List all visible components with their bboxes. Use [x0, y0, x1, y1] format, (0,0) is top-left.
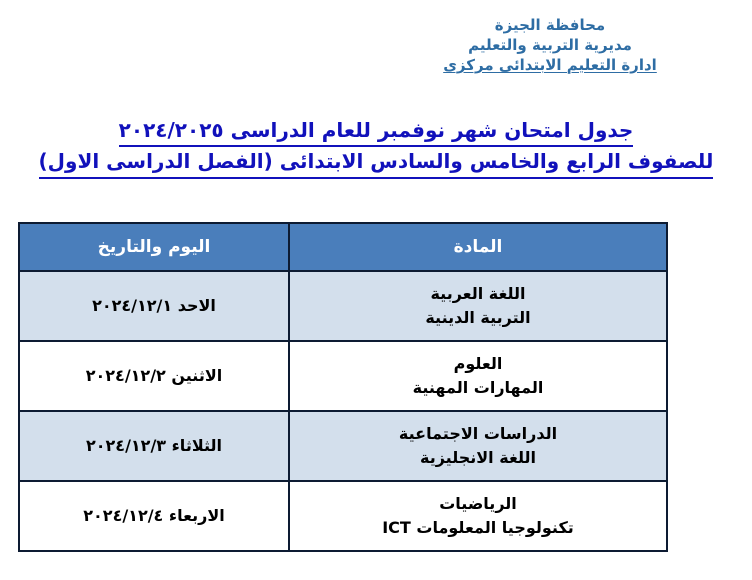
- subject-primary: اللغة العربية: [290, 282, 666, 306]
- cell-subject: العلوم المهارات المهنية: [289, 341, 667, 411]
- table-head: المادة اليوم والتاريخ: [19, 223, 667, 271]
- table-row: الرياضيات تكنولوجيا المعلومات ICT الاربع…: [19, 481, 667, 551]
- day-date-group: الاثنين ٢٠٢٤/١٢/٢: [20, 364, 288, 388]
- cell-day-date: الثلاثاء ٢٠٢٤/١٢/٣: [19, 411, 289, 481]
- page-title: جدول امتحان شهر نوفمبر للعام الدراسى ٢٠٢…: [0, 116, 752, 179]
- table-body: اللغة العربية التربية الدينية الاحد ٢٠٢٤…: [19, 271, 667, 551]
- date-label: ٢٠٢٤/١٢/٣: [86, 436, 166, 455]
- title-line-exam-schedule: جدول امتحان شهر نوفمبر للعام الدراسى ٢٠٢…: [0, 116, 752, 147]
- letterhead-line-directorate: مديرية التربية والتعليم: [400, 36, 700, 56]
- table-row: العلوم المهارات المهنية الاثنين ٢٠٢٤/١٢/…: [19, 341, 667, 411]
- subject-secondary: المهارات المهنية: [290, 376, 666, 400]
- subject-primary: العلوم: [290, 352, 666, 376]
- cell-day-date: الاربعاء ٢٠٢٤/١٢/٤: [19, 481, 289, 551]
- column-header-subject: المادة: [289, 223, 667, 271]
- title-line-grades: للصفوف الرابع والخامس والسادس الابتدائى …: [0, 147, 752, 178]
- cell-subject: الرياضيات تكنولوجيا المعلومات ICT: [289, 481, 667, 551]
- column-header-day-date: اليوم والتاريخ: [19, 223, 289, 271]
- letterhead: محافظة الجيزة مديرية التربية والتعليم اد…: [400, 16, 700, 75]
- subject-primary: الدراسات الاجتماعية: [290, 422, 666, 446]
- document-page: { "letterhead": { "lines": [ "محافظة الج…: [0, 0, 752, 580]
- cell-subject: الدراسات الاجتماعية اللغة الانجليزية: [289, 411, 667, 481]
- cell-subject: اللغة العربية التربية الدينية: [289, 271, 667, 341]
- cell-day-date: الاحد ٢٠٢٤/١٢/١: [19, 271, 289, 341]
- subject-stack: اللغة العربية التربية الدينية: [290, 282, 666, 330]
- day-label: الثلاثاء: [172, 436, 222, 455]
- cell-day-date: الاثنين ٢٠٢٤/١٢/٢: [19, 341, 289, 411]
- subject-secondary: تكنولوجيا المعلومات ICT: [290, 516, 666, 540]
- day-date-group: الاحد ٢٠٢٤/١٢/١: [20, 294, 288, 318]
- day-date-group: الاربعاء ٢٠٢٤/١٢/٤: [20, 504, 288, 528]
- subject-secondary: التربية الدينية: [290, 306, 666, 330]
- day-label: الاثنين: [171, 366, 222, 385]
- table-header-row: المادة اليوم والتاريخ: [19, 223, 667, 271]
- title-line-grades-text: للصفوف الرابع والخامس والسادس الابتدائى …: [39, 147, 714, 178]
- subject-primary: الرياضيات: [290, 492, 666, 516]
- subject-secondary: اللغة الانجليزية: [290, 446, 666, 470]
- day-label: الاحد: [178, 296, 216, 315]
- date-label: ٢٠٢٤/١٢/٤: [83, 506, 163, 525]
- subject-stack: الرياضيات تكنولوجيا المعلومات ICT: [290, 492, 666, 540]
- subject-stack: العلوم المهارات المهنية: [290, 352, 666, 400]
- date-label: ٢٠٢٤/١٢/١: [92, 296, 172, 315]
- day-date-group: الثلاثاء ٢٠٢٤/١٢/٣: [20, 434, 288, 458]
- table-row: الدراسات الاجتماعية اللغة الانجليزية الث…: [19, 411, 667, 481]
- letterhead-line-governorate: محافظة الجيزة: [400, 16, 700, 36]
- subject-stack: الدراسات الاجتماعية اللغة الانجليزية: [290, 422, 666, 470]
- table-row: اللغة العربية التربية الدينية الاحد ٢٠٢٤…: [19, 271, 667, 341]
- exam-schedule-table: المادة اليوم والتاريخ اللغة العربية التر…: [18, 222, 668, 552]
- schedule-table-container: المادة اليوم والتاريخ اللغة العربية التر…: [20, 222, 668, 552]
- letterhead-line-administration: ادارة التعليم الابتدائى مركزى: [400, 56, 700, 76]
- day-label: الاربعاء: [169, 506, 225, 525]
- date-label: ٢٠٢٤/١٢/٢: [86, 366, 166, 385]
- title-line-exam-schedule-text: جدول امتحان شهر نوفمبر للعام الدراسى ٢٠٢…: [119, 116, 634, 147]
